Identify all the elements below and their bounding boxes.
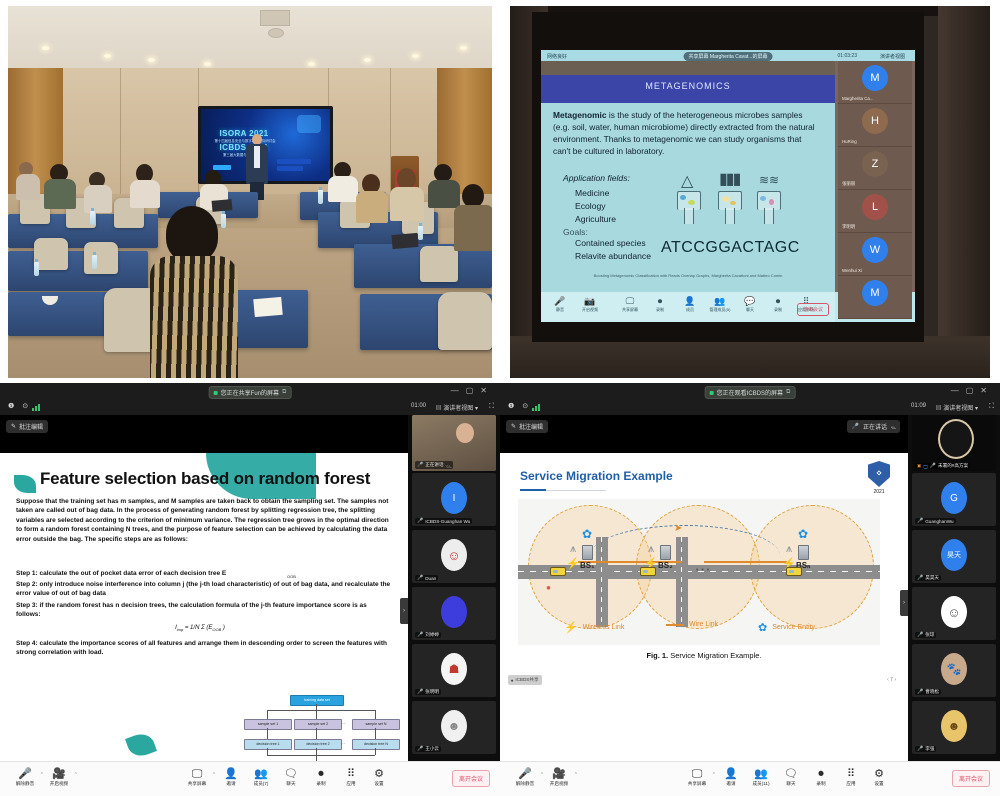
meeting-timer: 01:09 bbox=[911, 403, 926, 409]
participant-tile[interactable]: Z 张丽丽 bbox=[838, 147, 912, 190]
water-bottle bbox=[34, 262, 39, 276]
participant-tile[interactable]: ☗ 🎤张明明 bbox=[412, 644, 496, 697]
view-mode-button[interactable]: ▤ 演讲者视图 ▾ bbox=[936, 403, 978, 412]
window-controls[interactable]: —▢✕ bbox=[451, 386, 494, 395]
zoom-participant-rail[interactable]: M Margherita Ca... H HuRing Z 张丽丽 L bbox=[835, 61, 915, 292]
waveform-icon: ◟◟◟ bbox=[891, 423, 895, 430]
toolbar-mic[interactable]: 🎤静音 bbox=[547, 296, 573, 313]
camera-icon: 📷 bbox=[577, 296, 603, 307]
shared-document: ⋄ 2021 Service Migration Example ➤ bbox=[500, 453, 908, 762]
avatar: ☻ bbox=[941, 710, 967, 742]
toolbar-label: 录制 bbox=[816, 781, 825, 786]
water-bottle bbox=[318, 190, 323, 204]
toolbar-label: 聊天 bbox=[286, 781, 295, 786]
participant-name: 🎤曹晓松 bbox=[915, 689, 941, 695]
participant-name: 🎤张明明 bbox=[415, 689, 441, 695]
participant-tile[interactable]: G 🎤GuanghanWu bbox=[912, 473, 996, 526]
water-bottle bbox=[221, 214, 226, 228]
slide-section-2: Goals: bbox=[563, 227, 588, 237]
meeting-timer: 01:03:23 bbox=[838, 53, 857, 59]
downlight bbox=[42, 46, 49, 50]
slide-body: Metagenomic is the study of the heteroge… bbox=[553, 109, 821, 157]
flow-sample-1: sample set 1 bbox=[244, 719, 292, 730]
zoom-titlebar: 网络良好 共享屏幕 Margherita Cavat...的屏幕 01:03:2… bbox=[541, 50, 915, 61]
microbe-blob bbox=[730, 201, 736, 205]
slide-bullet: Medicine bbox=[575, 188, 609, 198]
ceiling bbox=[8, 6, 492, 70]
toolbar-label: 设置 bbox=[874, 781, 883, 786]
slide-paragraph: Suppose that the training set has m samp… bbox=[16, 497, 392, 544]
camera-button[interactable]: 🎥开启视频⌃ bbox=[544, 768, 574, 787]
microbe-blob bbox=[722, 196, 730, 202]
stop-share-icon[interactable]: ⧉ bbox=[282, 389, 286, 396]
legend-label: Wire Link bbox=[689, 621, 718, 628]
chevron-up-icon[interactable]: ⌃ bbox=[74, 772, 78, 778]
projection-screen-frame: 网络良好 共享屏幕 Margherita Cavat...的屏幕 01:03:2… bbox=[532, 12, 924, 342]
name-text: 正在讲话 bbox=[425, 462, 443, 468]
view-mode-button[interactable]: 演讲者视图 bbox=[880, 53, 905, 60]
toolbar-share[interactable]: 🖵共享屏幕 bbox=[617, 296, 643, 313]
legend-service: ✿ Service Entity bbox=[758, 621, 815, 634]
figure-caption: Fig. 1. Service Migration Example. bbox=[500, 651, 908, 660]
share-notice-pill[interactable]: 您正在观看ICBDS的屏幕 ⧉ bbox=[705, 386, 796, 399]
record-icon: ⏺ bbox=[647, 296, 673, 307]
title-rule bbox=[520, 489, 546, 491]
water-icon: ≋≋ bbox=[759, 173, 779, 187]
share-status-dot bbox=[710, 391, 714, 395]
meeting-toolbar[interactable]: 🎤解除静音⌃ 🎥开启视频⌃ 🖵共享屏幕⌃ 👤邀请 👥成员(11) 🗨聊天 ⏺录制… bbox=[500, 761, 1000, 796]
screen-subtitle-2: 第三届大数据与安全国际会议 bbox=[207, 152, 283, 157]
flow-link bbox=[316, 748, 317, 761]
quadrant-bottom-left: 您正在共享Fun的屏幕 ⧉ —▢✕ ❶ ⊙ 01:00 ▤ 演讲者视图 ▾ ⛶ … bbox=[0, 383, 500, 796]
flask-icon bbox=[677, 191, 699, 225]
formula-body: = 1/N Σ (E bbox=[185, 625, 212, 631]
dark-wall-right bbox=[938, 6, 990, 378]
chat-button[interactable]: 🗨聊天 bbox=[276, 768, 306, 787]
screen-share-icon: 🖵 bbox=[923, 464, 927, 469]
slide-bullet: Relavite abundance bbox=[575, 251, 651, 261]
record-dot-icon: ⏺ bbox=[511, 678, 513, 683]
participant-name: 李明明 bbox=[842, 224, 855, 230]
flow-link bbox=[316, 710, 317, 719]
body bbox=[428, 180, 460, 208]
participant-tile[interactable]: ☺ 🎤张琼 bbox=[912, 587, 996, 640]
legend-label: Service Entity bbox=[772, 624, 815, 631]
base-station-icon: ⩚ bbox=[648, 543, 660, 557]
share-screen-icon: 🖵 bbox=[682, 768, 712, 781]
chair bbox=[438, 292, 492, 350]
mountain-icon: △ bbox=[681, 171, 693, 191]
record-icon: ⏺ bbox=[306, 768, 336, 781]
stop-share-icon[interactable]: ⧉ bbox=[786, 389, 790, 396]
quadrant-top-left: ISORA 2021 第十四届信息安全与数字取证国际研讨会 ICBDS 2021… bbox=[0, 0, 500, 383]
body bbox=[454, 205, 492, 251]
participant-name: 🎤王小云 bbox=[415, 746, 441, 752]
icbds-badge: ⋄ 2021 bbox=[868, 461, 890, 487]
settings-button[interactable]: ⚙设置 bbox=[864, 768, 894, 787]
participant-tile[interactable]: H HuRing bbox=[838, 104, 912, 147]
flow-link bbox=[267, 710, 268, 719]
flow-tree-1: decision tree 1 bbox=[244, 739, 292, 750]
road-marking bbox=[601, 537, 602, 627]
collapse-rail-button[interactable]: › bbox=[900, 590, 908, 616]
apps-button[interactable]: ⠿应用 bbox=[336, 768, 366, 787]
leave-meeting-button[interactable]: 离开会议 bbox=[452, 770, 490, 787]
view-mode-button[interactable]: ▤ 演讲者视图 ▾ bbox=[436, 403, 478, 412]
participant-tile[interactable]: ☻ 🎤王小云 bbox=[412, 701, 496, 754]
manage-members-icon: 👥 bbox=[746, 768, 776, 781]
downlight bbox=[460, 46, 467, 50]
toolbar-label: 成员(7) bbox=[254, 781, 269, 786]
user-marker-icon: ✹ bbox=[546, 585, 551, 592]
legend-wire: Wire Link bbox=[666, 621, 718, 628]
zoom-toolbar[interactable]: 🎤静音 📷开启视频 🖵共享屏幕 ⏺录制 👤成员 👥管理成员(5) 💬聊天 ⏺录制… bbox=[541, 292, 835, 322]
microbe-blob bbox=[769, 199, 774, 205]
participant-tile[interactable]: 🐾 🎤曹晓松 bbox=[912, 644, 996, 697]
slide-title: Service Migration Example bbox=[520, 469, 673, 483]
participant-tile[interactable]: 🎤刘婷婷 bbox=[412, 587, 496, 640]
shared-document: Feature selection based on random forest… bbox=[0, 453, 408, 762]
vertical-road bbox=[596, 537, 608, 627]
window-controls[interactable]: —▢✕ bbox=[951, 386, 994, 395]
invite-button[interactable]: 👤邀请 bbox=[716, 768, 746, 787]
ceiling-vent bbox=[268, 28, 284, 38]
flow-link bbox=[375, 710, 376, 719]
slide-bullet: Ecology bbox=[575, 201, 606, 211]
mic-button[interactable]: 🎤解除静音⌃ bbox=[510, 768, 540, 787]
bolt-icon: ⚡ bbox=[566, 557, 580, 570]
mic-muted-icon: 🎤 bbox=[917, 746, 923, 752]
name-text: 张琼 bbox=[925, 632, 934, 638]
subbar: ❶ ⊙ 01:09 ▤ 演讲者视图 ▾ ⛶ bbox=[500, 399, 1000, 415]
speaking-indicator: 🎤 正在讲话 ◟◟◟ bbox=[847, 420, 900, 433]
formula-sub2: OOB bbox=[212, 627, 221, 632]
participant-rail[interactable]: ▣🖵🎤未署的#高方案 G 🎤GuanghanWu 昊天 🎤昊昊天 ☺ 🎤张琼 🐾… bbox=[908, 415, 1000, 762]
car-icon bbox=[640, 567, 656, 576]
downlight bbox=[364, 58, 371, 62]
flow-root: training data set bbox=[290, 695, 344, 706]
meeting-timer: 01:00 bbox=[411, 403, 426, 409]
avatar: M bbox=[862, 65, 888, 91]
body bbox=[356, 191, 388, 223]
participant-tile[interactable]: 🎤正在讲话◟◟◟ bbox=[412, 415, 496, 471]
participant-name: 🎤李强 bbox=[915, 746, 936, 752]
downlight bbox=[104, 54, 111, 58]
mic-muted-icon: 🎤 bbox=[917, 689, 923, 695]
flow-link bbox=[375, 728, 376, 739]
page-indicator[interactable]: ‹ 7 › bbox=[887, 677, 896, 683]
participant-rail[interactable]: 🎤正在讲话◟◟◟ I 🎤ICBDS-Guanghan Wu ☺ 🎤Duan 🎤刘… bbox=[408, 415, 500, 762]
name-text: GuanghanWu bbox=[925, 519, 953, 524]
participant-tile[interactable]: 昊天 🎤昊昊天 bbox=[912, 530, 996, 583]
screen-title-2: ICBDS 2021 bbox=[209, 143, 279, 152]
slide-paragraph: Step 2: only introduce noise interferenc… bbox=[16, 580, 392, 599]
flask-icon bbox=[718, 191, 740, 225]
toolbar-label: 开启视频 bbox=[582, 307, 598, 312]
flow-ellipsis: ⋯ bbox=[341, 741, 346, 746]
apps-icon: ⠿ bbox=[836, 768, 866, 781]
share-notice-pill[interactable]: 您正在共享Fun的屏幕 ⧉ bbox=[209, 386, 292, 399]
toolbar-label: 静音 bbox=[556, 307, 564, 312]
avatar: G bbox=[941, 482, 967, 514]
car-icon bbox=[550, 567, 566, 576]
annotate-label: 批注编辑 bbox=[519, 422, 543, 431]
mic-muted-icon: 🎤 bbox=[917, 518, 923, 524]
slide-title: METAGENOMICS bbox=[541, 81, 835, 91]
avatar: I bbox=[441, 482, 467, 514]
downlight bbox=[308, 62, 315, 66]
participant-name: 🎤Duan bbox=[415, 575, 438, 581]
mic-muted-icon: 🎤 bbox=[417, 575, 423, 581]
toolbar-record2[interactable]: ⏺录制 bbox=[765, 296, 791, 313]
screen-graphic bbox=[297, 115, 321, 133]
wire-link bbox=[704, 561, 788, 563]
water-bottle bbox=[418, 226, 423, 240]
pen-icon: ✎ bbox=[11, 423, 16, 430]
flow-link bbox=[267, 728, 268, 739]
base-station-icon: ⩚ bbox=[570, 543, 582, 557]
titlebar: 您正在共享Fun的屏幕 ⧉ —▢✕ bbox=[0, 383, 500, 399]
toolbar-label: 解除静音 bbox=[16, 781, 34, 786]
participant-name: 🎤刘婷婷 bbox=[415, 632, 441, 638]
formula-subscript: imp bbox=[177, 627, 183, 632]
avatar: L bbox=[862, 194, 888, 220]
screen-band bbox=[277, 166, 303, 171]
participant-tile[interactable]: M bbox=[838, 276, 912, 319]
figure-ellipsis: • • • bbox=[696, 567, 710, 574]
avatar: H bbox=[862, 108, 888, 134]
legend-label: Wireless Link bbox=[583, 624, 625, 631]
toolbar-label: 管理成员(5) bbox=[710, 307, 731, 312]
participant-tile[interactable]: M Margherita Ca... bbox=[838, 61, 912, 104]
slide-lead: Metagenomic bbox=[553, 110, 607, 120]
flask-neck bbox=[684, 208, 694, 224]
host-badge-icon: ▣ bbox=[917, 463, 921, 469]
metagenomics-slide: METAGENOMICS Metagenomic is the study of… bbox=[541, 61, 835, 292]
city-icon: ▮▮▮ bbox=[719, 169, 739, 189]
leave-meeting-button[interactable]: 离开会议 bbox=[952, 770, 990, 787]
waveform-icon: ◟◟◟ bbox=[446, 461, 451, 469]
tencent-meeting-window-left: 您正在共享Fun的屏幕 ⧉ —▢✕ ❶ ⊙ 01:00 ▤ 演讲者视图 ▾ ⛶ … bbox=[0, 383, 500, 796]
quadrant-bottom-right: 您正在观看ICBDS的屏幕 ⧉ —▢✕ ❶ ⊙ 01:09 ▤ 演讲者视图 ▾ … bbox=[500, 383, 1000, 796]
settings-icon: ⚙ bbox=[364, 768, 394, 781]
arrow-icon: ➤ bbox=[674, 523, 682, 534]
toolbar-chat[interactable]: 💬聊天 bbox=[737, 296, 763, 313]
toolbar-label: 聊天 bbox=[746, 307, 754, 312]
toolbar-manage[interactable]: 👥管理成员(5) bbox=[707, 296, 733, 313]
members-button[interactable]: 👥成员(11) bbox=[746, 768, 776, 787]
settings-icon: ⚙ bbox=[864, 768, 894, 781]
record-button[interactable]: ⏺录制 bbox=[306, 768, 336, 787]
participant-name: 🎤GuanghanWu bbox=[915, 518, 956, 524]
members-icon: 👤 bbox=[677, 296, 703, 307]
participant-name: 🎤张琼 bbox=[915, 632, 936, 638]
car-icon bbox=[786, 567, 802, 576]
chat-icon: 🗨 bbox=[276, 768, 306, 781]
slide-paragraph: Step 1: calculate the out of pocket data… bbox=[16, 569, 392, 578]
name-text: 未署的#高方案 bbox=[938, 463, 968, 469]
apps-button[interactable]: ⠿应用 bbox=[836, 768, 866, 787]
body bbox=[130, 180, 160, 208]
manage-members-icon: 👥 bbox=[707, 296, 733, 307]
camera-button[interactable]: 🎥开启视频⌃ bbox=[44, 768, 74, 787]
formula-inline-sub: OOB bbox=[287, 574, 296, 579]
conference-room-photo: ISORA 2021 第十四届信息安全与数字取证国际研讨会 ICBDS 2021… bbox=[8, 6, 492, 378]
participant-tile[interactable]: L 李明明 bbox=[838, 190, 912, 233]
flow-link bbox=[316, 728, 317, 739]
dark-floor bbox=[510, 336, 990, 378]
mic-muted-icon: 🎤 bbox=[10, 768, 40, 781]
caption-label: Fig. 1. bbox=[646, 651, 668, 660]
downlight bbox=[204, 62, 211, 66]
water-bottle bbox=[90, 211, 95, 225]
info-icon[interactable]: ❶ ⊙ bbox=[8, 402, 31, 410]
network-label: 网络良好 bbox=[547, 53, 567, 60]
avatar: Z bbox=[862, 151, 888, 177]
flow-link bbox=[267, 748, 268, 755]
photo-collage: ISORA 2021 第十四届信息安全与数字取证国际研讨会 ICBDS 2021… bbox=[0, 0, 1000, 796]
toolbar-label: 共享屏幕 bbox=[688, 781, 706, 786]
pen-icon: ✎ bbox=[511, 423, 516, 430]
flow-link bbox=[267, 710, 375, 711]
titlebar: 您正在观看ICBDS的屏幕 ⧉ —▢✕ bbox=[500, 383, 1000, 399]
flask-icon bbox=[757, 191, 779, 225]
avatar: 🐾 bbox=[941, 653, 967, 685]
speaker-person bbox=[246, 134, 268, 198]
caption-text: Service Migration Example. bbox=[668, 651, 761, 660]
fullscreen-icon[interactable]: ⛶ bbox=[989, 403, 994, 411]
gear-icon: ✿ bbox=[798, 527, 808, 541]
decor-leaf-small bbox=[125, 730, 157, 760]
invite-button[interactable]: 👤邀请 bbox=[216, 768, 246, 787]
dna-sequence: ATCCGGACTAGC bbox=[661, 239, 800, 257]
mic-muted-icon: 🎤 bbox=[510, 768, 540, 781]
decor-leaf-small bbox=[14, 475, 36, 493]
chevron-up-icon[interactable]: ⌃ bbox=[574, 772, 578, 778]
slide-title: Feature selection based on random forest bbox=[40, 469, 370, 489]
flow-ellipsis: ⋯ bbox=[341, 721, 346, 726]
slide-bullet: Agriculture bbox=[575, 214, 616, 224]
slide-paragraph: Step 3: if the random forest has n decis… bbox=[16, 601, 392, 620]
microbe-blob bbox=[688, 200, 695, 205]
mic-muted-icon: 🎤 bbox=[417, 746, 423, 752]
toolbar-camera[interactable]: 📷开启视频 bbox=[577, 296, 603, 313]
collapse-rail-button[interactable]: › bbox=[400, 598, 408, 624]
settings-button[interactable]: ⚙设置 bbox=[364, 768, 394, 787]
vertical-road bbox=[676, 537, 688, 627]
members-button[interactable]: 👥成员(7) bbox=[246, 768, 276, 787]
avatar: M bbox=[862, 280, 888, 306]
toolbar-record[interactable]: ⏺录制 bbox=[647, 296, 673, 313]
leave-meeting-button[interactable]: 结束会议 bbox=[797, 303, 829, 316]
mic-muted-icon: 🎤 bbox=[917, 632, 923, 638]
apps-icon: ⠿ bbox=[336, 768, 366, 781]
participant-tile[interactable]: W Wenhui Xi bbox=[838, 233, 912, 276]
avatar: ☗ bbox=[441, 653, 467, 685]
slide-footnote: Boosting Metagenomic Classification with… bbox=[555, 273, 821, 278]
bs-label: BS₂ bbox=[658, 561, 673, 570]
downlight bbox=[148, 58, 155, 62]
share-screen-button[interactable]: 🖵共享屏幕⌃ bbox=[182, 768, 212, 787]
mic-muted-icon: 🎤 bbox=[417, 689, 423, 695]
annotate-button[interactable]: ✎ 批注编辑 bbox=[506, 420, 548, 433]
shared-screen-stage: ✎ 批注编辑 🎤 正在讲话 ◟◟◟ ⋄ 2021 Service Migrati… bbox=[500, 415, 908, 762]
annotate-button[interactable]: ✎ 批注编辑 bbox=[6, 420, 48, 433]
speaking-label: 正在讲话 bbox=[863, 422, 887, 431]
toolbar-label: 成员 bbox=[686, 307, 694, 312]
toolbar-label: 设置 bbox=[374, 781, 383, 786]
participant-name: ▣🖵🎤未署的#高方案 bbox=[915, 463, 970, 469]
share-notice-text: 您正在观看ICBDS的屏幕 bbox=[717, 388, 783, 397]
toolbar-members[interactable]: 👤成员 bbox=[677, 296, 703, 313]
microbe-blob bbox=[760, 196, 766, 201]
members-icon: 👤 bbox=[216, 768, 246, 781]
body bbox=[328, 176, 358, 202]
network-glyph: ⋄ bbox=[868, 468, 890, 479]
participant-tile[interactable]: ☻ 🎤李强 bbox=[912, 701, 996, 754]
meeting-toolbar[interactable]: 🎤解除静音⌃ 🎥开启视频⌃ 🖵共享屏幕⌃ 👤邀请 👥成员(7) 🗨聊天 ⏺录制 … bbox=[0, 761, 500, 796]
participant-tile[interactable]: ▣🖵🎤未署的#高方案 bbox=[912, 415, 996, 471]
toolbar-label: 应用 bbox=[346, 781, 355, 786]
participant-tile[interactable]: ☺ 🎤Duan bbox=[412, 530, 496, 583]
toolbar-label: 共享屏幕 bbox=[188, 781, 206, 786]
slide-paragraph: Step 4: calculate the importance scores … bbox=[16, 639, 392, 658]
slide-bullet: Contained species bbox=[575, 238, 646, 248]
chat-button[interactable]: 🗨聊天 bbox=[776, 768, 806, 787]
participant-tile[interactable]: I 🎤ICBDS-Guanghan Wu bbox=[412, 473, 496, 526]
avatar: W bbox=[862, 237, 888, 263]
flow-link bbox=[375, 748, 376, 755]
participant-name: HuRing bbox=[842, 139, 857, 144]
name-text: ICBDS-Guanghan Wu bbox=[425, 519, 470, 524]
record-button[interactable]: ⏺录制 bbox=[806, 768, 836, 787]
participant-name: 张丽丽 bbox=[842, 181, 855, 187]
ceiling-vent bbox=[260, 10, 290, 26]
screen-title: ISORA 2021 bbox=[209, 129, 279, 138]
chair bbox=[34, 238, 68, 270]
share-screen-button[interactable]: 🖵共享屏幕⌃ bbox=[682, 768, 712, 787]
flask-neck bbox=[764, 208, 774, 224]
mic-icon: 🎤 bbox=[930, 463, 936, 469]
viewer-control-pill[interactable]: ⏺ICBDS共享 bbox=[508, 675, 542, 685]
tencent-meeting-window-right: 您正在观看ICBDS的屏幕 ⧉ —▢✕ ❶ ⊙ 01:09 ▤ 演讲者视图 ▾ … bbox=[500, 383, 1000, 796]
mic-icon: 🎤 bbox=[852, 423, 859, 430]
toolbar-label: 开启视频 bbox=[50, 781, 68, 786]
flow-sample-2: sample set 2 bbox=[294, 719, 342, 730]
screen-band bbox=[277, 159, 311, 164]
slide-section-1: Application fields: bbox=[563, 173, 630, 183]
share-pill[interactable]: 共享屏幕 Margherita Cavat...的屏幕 bbox=[684, 52, 773, 61]
video-feed bbox=[938, 419, 974, 459]
line-icon bbox=[666, 624, 684, 626]
toolbar-label: 录制 bbox=[656, 307, 664, 312]
mic-muted-icon: 🎤 bbox=[417, 632, 423, 638]
annotate-label: 批注编辑 bbox=[19, 422, 43, 431]
mic-button[interactable]: 🎤解除静音⌃ bbox=[10, 768, 40, 787]
shared-screen-stage: ✎ 批注编辑 Feature selection based on random… bbox=[0, 415, 408, 762]
manage-members-icon: 👥 bbox=[246, 768, 276, 781]
flow-tree-n: decision tree N bbox=[352, 739, 400, 750]
bs-label: BS₁ bbox=[580, 561, 594, 570]
avatar bbox=[441, 596, 467, 628]
fullscreen-icon[interactable]: ⛶ bbox=[489, 403, 494, 411]
toolbar-label: 应用 bbox=[846, 781, 855, 786]
water-bottle bbox=[92, 255, 97, 269]
head bbox=[166, 206, 218, 262]
gear-icon: ✿ bbox=[758, 621, 767, 634]
paper bbox=[391, 233, 418, 249]
info-icon[interactable]: ❶ ⊙ bbox=[508, 402, 531, 410]
